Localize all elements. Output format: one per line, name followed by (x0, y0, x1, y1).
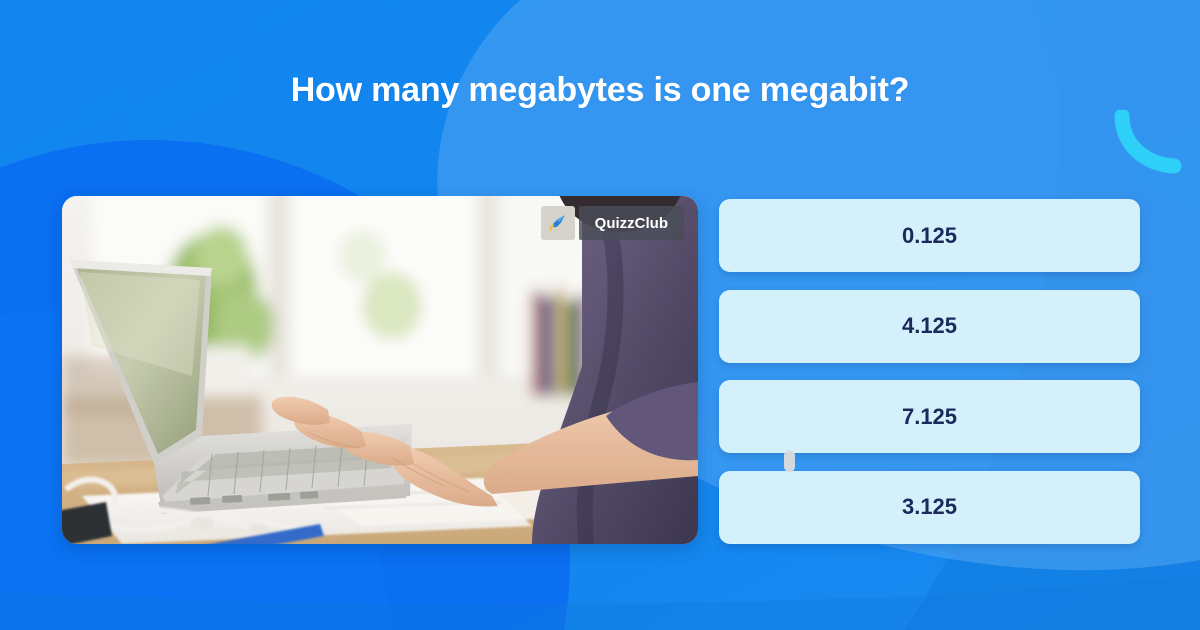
graduation-cap-icon (541, 206, 575, 240)
quiz-share-card: How many megabytes is one megabit? (0, 0, 1200, 630)
photo-scene (62, 196, 698, 544)
scrollbar-pill[interactable] (784, 450, 795, 472)
answer-option-3[interactable]: 7.125 (719, 380, 1140, 453)
brand-name: QuizzClub (579, 206, 684, 240)
answer-option-label: 4.125 (902, 313, 957, 339)
answer-option-label: 0.125 (902, 223, 957, 249)
answer-option-label: 7.125 (902, 404, 957, 430)
question-title: How many megabytes is one megabit? (0, 68, 1200, 112)
answer-option-4[interactable]: 3.125 (719, 471, 1140, 544)
cyan-arc-decoration (1110, 110, 1190, 180)
answer-option-label: 3.125 (902, 494, 957, 520)
question-image: QuizzClub (62, 196, 698, 544)
watermark: QuizzClub (541, 206, 684, 240)
answer-option-2[interactable]: 4.125 (719, 290, 1140, 363)
answer-option-1[interactable]: 0.125 (719, 199, 1140, 272)
answer-options-list: 0.125 4.125 7.125 3.125 (719, 199, 1140, 544)
